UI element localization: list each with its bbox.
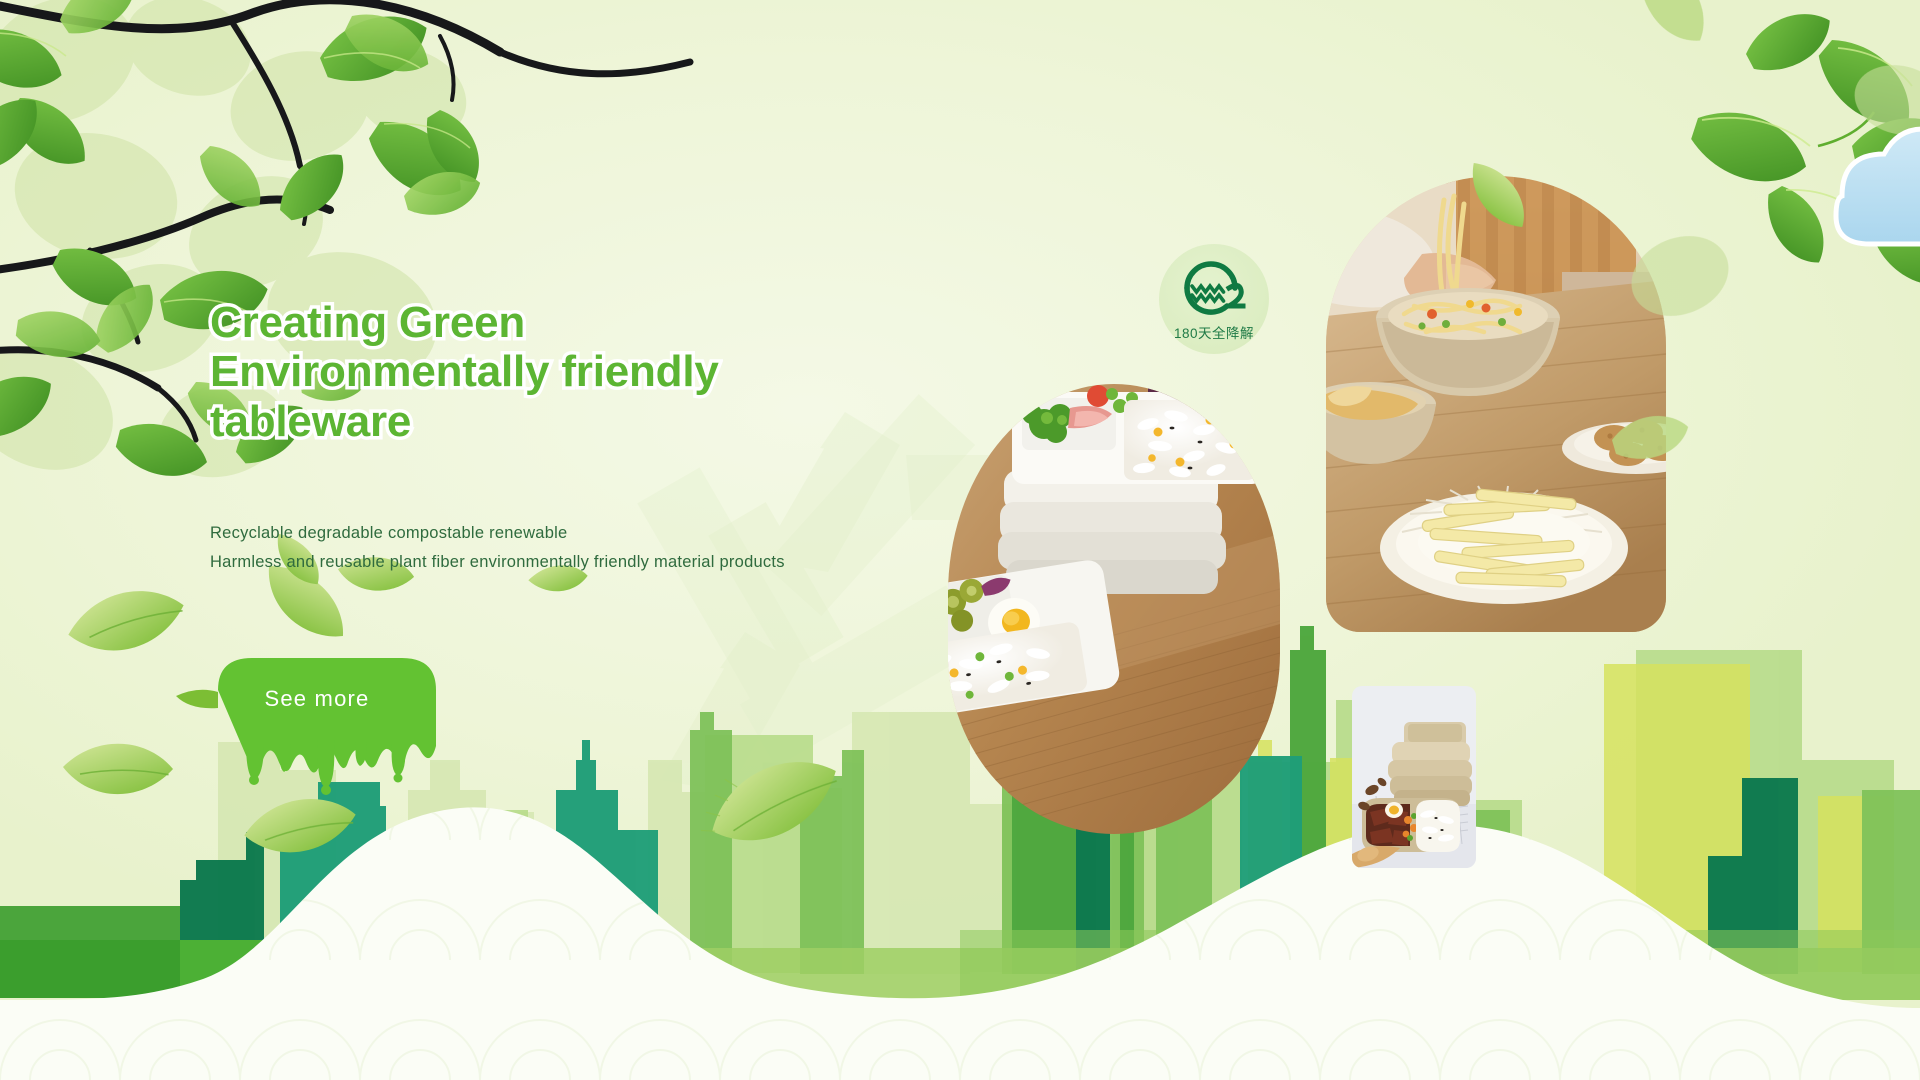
containers-image [1352,686,1476,868]
headline-line-3: tableware [210,397,910,446]
noodles-fries-image [1326,176,1666,632]
headline-line-1: Creating Green [210,298,910,347]
badge-caption: 180天全降解 [1159,322,1269,342]
hero-banner: Creating Green Environmentally friendly … [0,0,1920,1080]
page-title: Creating Green Environmentally friendly … [210,298,910,446]
photo-bento-boxes-on-wooden-table [948,384,1280,834]
see-more-button[interactable]: See more [212,668,422,793]
bento-boxes-image [948,384,1280,834]
headline-line-2: Environmentally friendly [210,347,910,396]
photo-noodle-bowl-and-fries [1326,176,1666,632]
see-more-button-label: See more [212,686,422,712]
biodegradable-badge: 180天全降解 [1159,244,1269,354]
photo-stacked-takeaway-containers [1352,686,1476,868]
subtitle-line-1: Recyclable degradable compostable renewa… [210,524,567,543]
subtitle-line-2: Harmless and reusable plant fiber enviro… [210,553,785,572]
